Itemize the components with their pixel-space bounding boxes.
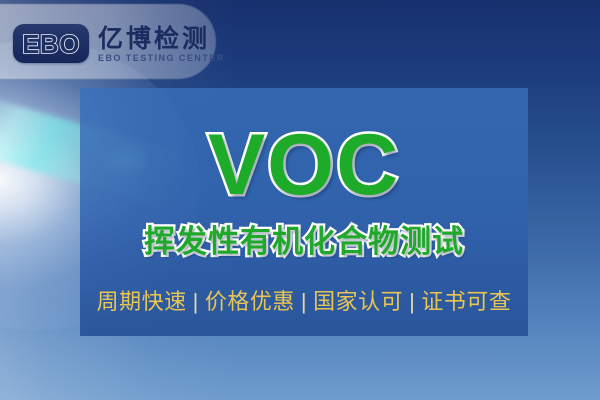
tagline-separator: | — [403, 289, 421, 314]
voc-testing-banner: EBO 亿博检测 EBO TESTING CENTER VOC 挥发性有机化合物… — [0, 0, 600, 400]
tagline-separator: | — [187, 289, 205, 314]
tagline-row: 周期快速|价格优惠|国家认可|证书可查 — [80, 291, 528, 313]
brand-name-block: 亿博检测 EBO TESTING CENTER — [98, 25, 225, 63]
brand-name-chinese: 亿博检测 — [98, 26, 225, 52]
tagline-item: 证书可查 — [421, 289, 511, 314]
headline-voc: VOC — [80, 122, 528, 208]
ebo-badge: EBO — [13, 24, 89, 63]
tagline-item: 周期快速 — [97, 289, 187, 314]
brand-name-english: EBO TESTING CENTER — [98, 53, 225, 63]
tagline-item: 国家认可 — [313, 289, 403, 314]
ebo-badge-label: EBO — [22, 31, 80, 57]
content-panel: VOC 挥发性有机化合物测试 周期快速|价格优惠|国家认可|证书可查 — [80, 88, 528, 336]
tagline-item: 价格优惠 — [205, 289, 295, 314]
subtitle-text: 挥发性有机化合物测试 — [80, 226, 528, 257]
brand-logo[interactable]: EBO 亿博检测 EBO TESTING CENTER — [13, 24, 225, 63]
tagline-separator: | — [295, 289, 313, 314]
